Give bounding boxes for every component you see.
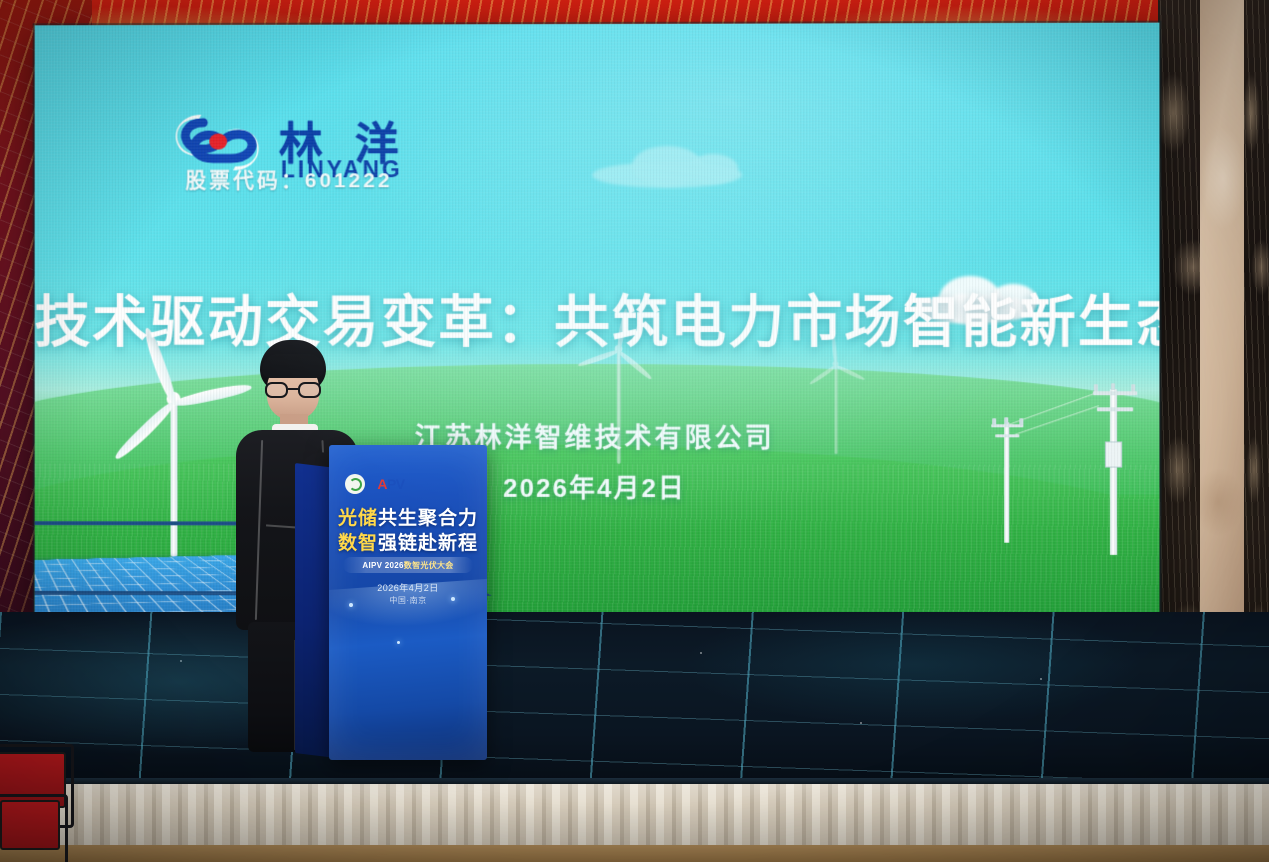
stage-floor [0, 612, 1269, 787]
conference-stage-photo: H₂ 林 洋 LINYANG 股票代码：601222 技术驱动交易变革：共筑电力… [0, 0, 1269, 862]
podium-logo-row: APV [319, 472, 431, 496]
podium-city: 中国·南京 [329, 595, 487, 606]
podium-event-banner: AIPV 2026 数智光伏大会 [343, 557, 473, 573]
podium-side-face [295, 463, 333, 758]
aipv-logo-icon: APV [377, 476, 404, 492]
podium-banner-en: AIPV 2026 [362, 561, 403, 570]
green-leaf-circle-logo-icon [345, 474, 365, 494]
podium-slogan-2-accent: 数智 [338, 533, 378, 554]
podium-slogan-1-accent: 光储 [338, 508, 378, 529]
presenter-fringe [262, 354, 324, 378]
podium-slogan-1-rest: 共生聚合力 [378, 508, 478, 529]
slide-company-name: 江苏林洋智维技术有限公司 [35, 416, 1160, 456]
eyeglasses-icon [265, 382, 323, 398]
podium-slogan-2-rest: 强链赴新程 [378, 533, 478, 554]
venue-floor-carpet [0, 845, 1269, 862]
podium-date: 2026年4月2日 [329, 581, 487, 594]
podium-slogan-line-2: 数智强链赴新程 [329, 528, 487, 555]
slide-date: 2026年4月2日 [35, 467, 1160, 505]
podium-banner-cn: 数智光伏大会 [404, 560, 454, 571]
stock-code-label: 股票代码：601222 [185, 164, 392, 194]
led-screen: H₂ 林 洋 LINYANG 股票代码：601222 技术驱动交易变革：共筑电力… [35, 23, 1160, 636]
podium-slogan-line-1: 光储共生聚合力 [329, 503, 487, 530]
linyang-brand-logo: 林 洋 LINYANG 股票代码：601222 [156, 104, 455, 214]
slide-title: 技术驱动交易变革：共筑电力市场智能新生态 [35, 277, 1160, 358]
podium: APV 光储共生聚合力 数智强链赴新程 AIPV 2026 数智光伏大会 202… [295, 445, 495, 760]
